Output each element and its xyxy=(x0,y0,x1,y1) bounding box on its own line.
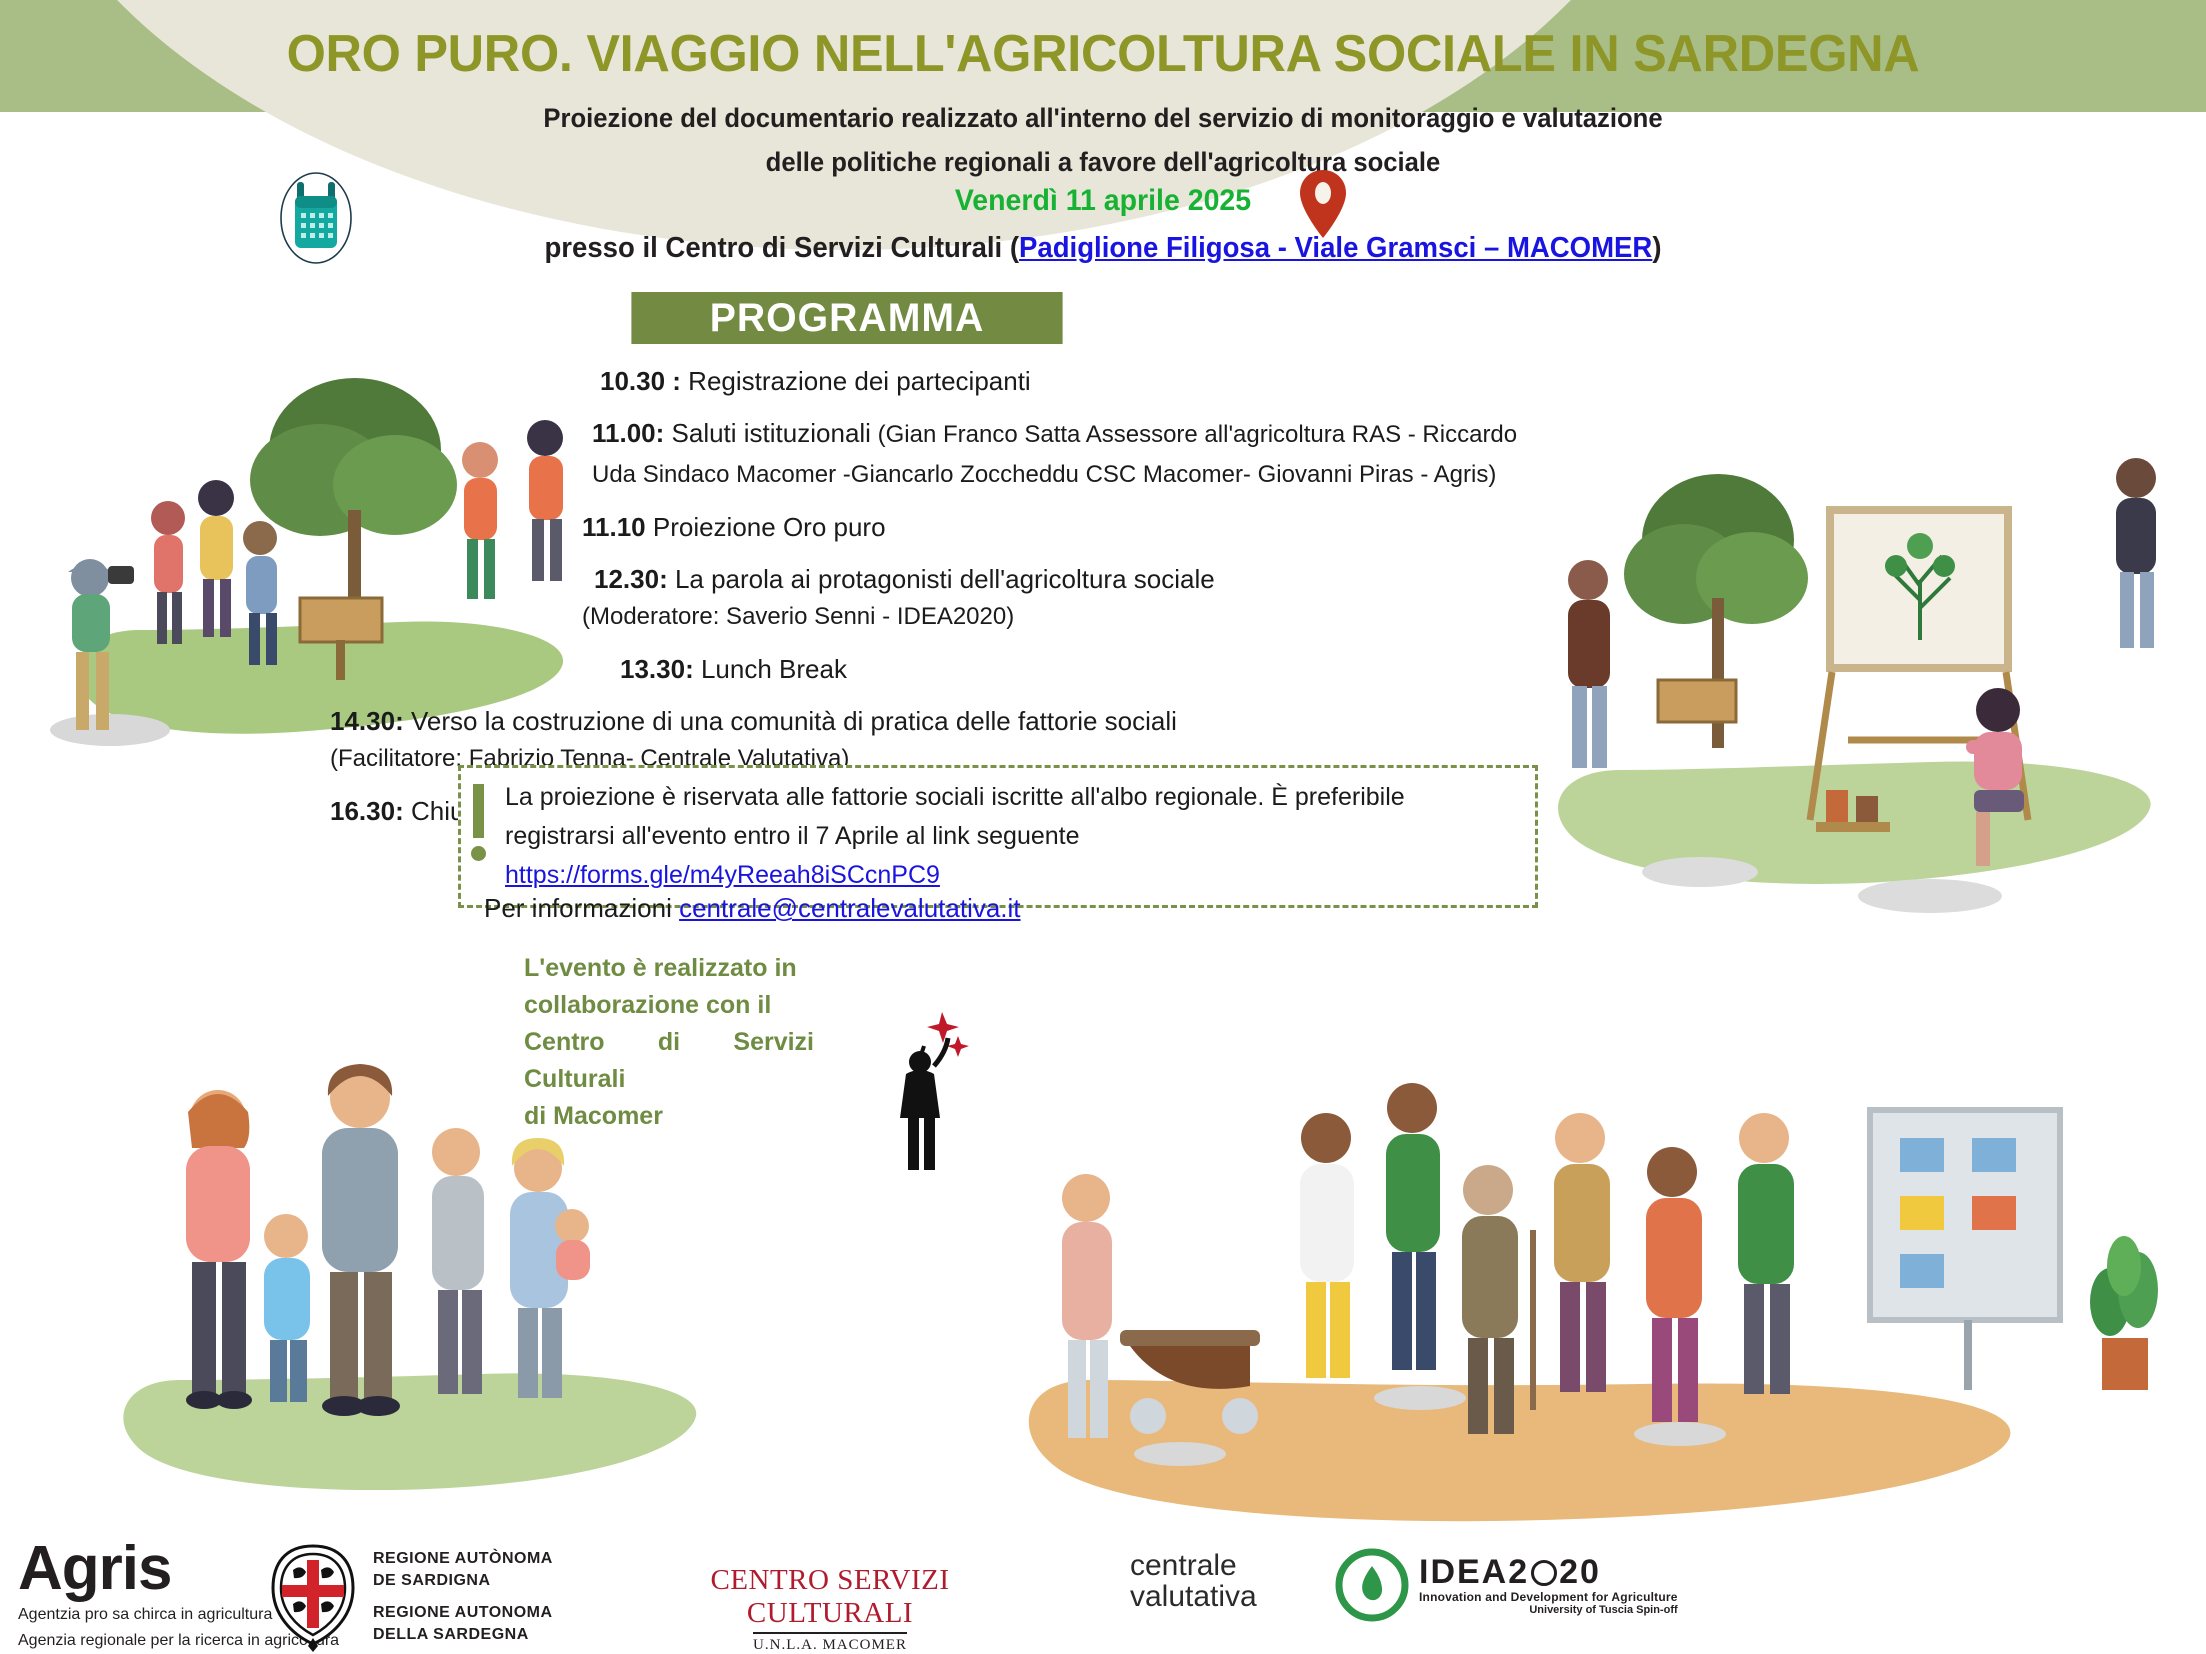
illustration-painter-scene xyxy=(1530,440,2190,940)
page-subtitle: Proiezione del documentario realizzato a… xyxy=(55,96,2151,184)
contact-info: Per informazioni centrale@centralevaluta… xyxy=(484,893,1021,924)
collab-line-2: collaborazione con il xyxy=(524,987,814,1024)
schedule-time: 12.30: xyxy=(594,564,668,594)
schedule-item: 11.10 Proiezione Oro puro xyxy=(330,508,1530,546)
regione-sardegna-logo: REGIONE AUTÒNOMA DE SARDIGNA REGIONE AUT… xyxy=(265,1542,553,1652)
venue-suffix: ) xyxy=(1652,232,1661,264)
programma-banner: PROGRAMMA xyxy=(631,292,1062,344)
event-poster: ORO PURO. VIAGGIO NELL'AGRICOLTURA SOCIA… xyxy=(0,0,2206,1654)
footer-logos: Agris Agentzia pro sa chirca in agricult… xyxy=(0,1540,2206,1654)
regione-line-2: DE SARDIGNA xyxy=(373,1570,553,1592)
collab-line-1: L'evento è realizzato in xyxy=(524,950,814,987)
schedule-item: 11.00: Saluti istituzionali (Gian Franco… xyxy=(330,414,1530,494)
schedule-time: 10.30 : xyxy=(600,366,681,396)
schedule-time: 14.30: xyxy=(330,706,404,736)
illustration-workshop-group xyxy=(1020,1080,2200,1540)
schedule-label: Registrazione dei partecipanti xyxy=(681,366,1031,396)
idea-name-head: IDEA2 xyxy=(1419,1553,1529,1591)
contact-email-link[interactable]: centrale@centralevalutativa.it xyxy=(679,893,1020,923)
collaboration-note: L'evento è realizzato in collaborazione … xyxy=(524,950,814,1135)
schedule-label: La parola ai protagonisti dell'agricoltu… xyxy=(668,564,1215,594)
collab-line-4: di Macomer xyxy=(524,1098,814,1135)
illustration-sparkler-figure xyxy=(880,1000,970,1180)
header-text-group: ORO PURO. VIAGGIO NELL'AGRICOLTURA SOCIA… xyxy=(0,0,2206,184)
notice-accent-bar xyxy=(473,784,484,838)
idea2020-logo: IDEA220 Innovation and Development for A… xyxy=(1335,1548,1678,1622)
schedule-time: 16.30: xyxy=(330,796,404,826)
schedule-label: Lunch Break xyxy=(694,654,847,684)
idea-subtitle-1: Innovation and Development for Agricultu… xyxy=(1419,1590,1678,1604)
schedule-time: 11.00: xyxy=(592,418,664,448)
subtitle-line-2: delle politiche regionali a favore dell'… xyxy=(55,140,2151,184)
regione-line-3: REGIONE AUTONOMA xyxy=(373,1602,553,1624)
subtitle-line-1: Proiezione del documentario realizzato a… xyxy=(55,96,2151,140)
centro-servizi-culturali-logo: CENTRO SERVIZI CULTURALI U.N.L.A. MACOME… xyxy=(680,1564,980,1654)
idea-seal-icon xyxy=(1531,1560,1557,1586)
venue-link[interactable]: Padiglione Filigosa - Viale Gramsci – MA… xyxy=(1019,232,1652,264)
schedule-time: 11.10 xyxy=(582,512,646,542)
cv-line-1: centrale xyxy=(1130,1550,1257,1581)
schedule-detail: (Moderatore: Saverio Senni - IDEA2020) xyxy=(582,598,1530,636)
regione-line-1: REGIONE AUTÒNOMA xyxy=(373,1548,553,1570)
idea-leaf-drop-icon xyxy=(1335,1548,1409,1622)
schedule-item: 10.30 : Registrazione dei partecipanti xyxy=(330,362,1530,400)
notice-box: La proiezione è riservata alle fattorie … xyxy=(458,765,1538,908)
schedule-item: 13.30: Lunch Break xyxy=(330,650,1530,688)
schedule-label: Verso la costruzione di una comunità di … xyxy=(404,706,1177,736)
notice-text: La proiezione è riservata alle fattorie … xyxy=(505,783,1405,850)
schedule-item: 12.30: La parola ai protagonisti dell'ag… xyxy=(330,560,1530,636)
event-venue: presso il Centro di Servizi Culturali (P… xyxy=(55,232,2151,265)
centrale-valutativa-logo: centrale valutativa xyxy=(1130,1550,1257,1612)
schedule-time: 13.30: xyxy=(620,654,694,684)
collab-line-3: Centro di Servizi Culturali xyxy=(524,1024,814,1098)
sardinia-four-moors-emblem-icon xyxy=(265,1542,361,1652)
event-date: Venerdì 11 aprile 2025 xyxy=(55,184,2151,218)
csc-name: CENTRO SERVIZI CULTURALI xyxy=(680,1564,980,1630)
venue-prefix: presso il Centro di Servizi Culturali ( xyxy=(544,232,1019,264)
regione-line-4: DELLA SARDEGNA xyxy=(373,1624,553,1646)
idea-text-block: IDEA220 Innovation and Development for A… xyxy=(1419,1554,1678,1616)
idea-name: IDEA220 xyxy=(1419,1554,1678,1590)
idea-name-tail: 20 xyxy=(1559,1553,1601,1591)
csc-subtitle: U.N.L.A. MACOMER xyxy=(753,1632,907,1654)
notice-bullet-dot xyxy=(471,846,486,861)
cv-line-2: valutativa xyxy=(1130,1581,1257,1612)
regione-text-block: REGIONE AUTÒNOMA DE SARDIGNA REGIONE AUT… xyxy=(373,1548,553,1646)
contact-prefix: Per informazioni xyxy=(484,893,679,923)
idea-subtitle-2: University of Tuscia Spin-off xyxy=(1419,1604,1678,1616)
registration-link[interactable]: https://forms.gle/m4yReeah8iSCcnPC9 xyxy=(505,861,940,889)
page-title: ORO PURO. VIAGGIO NELL'AGRICOLTURA SOCIA… xyxy=(33,0,2173,84)
schedule-label: Saluti istituzionali xyxy=(664,418,871,448)
schedule-label: Proiezione Oro puro xyxy=(646,512,886,542)
